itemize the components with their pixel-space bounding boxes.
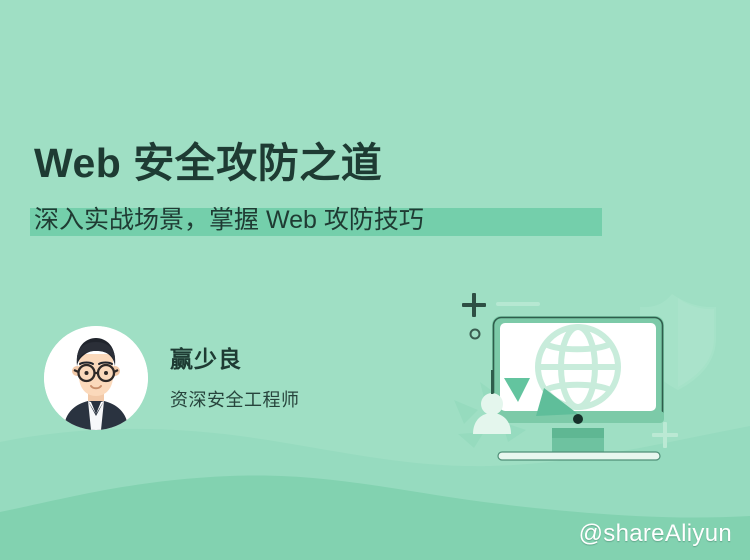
- speaker-text: 赢少良 资深安全工程师: [170, 340, 300, 416]
- speaker-block: 赢少良 资深安全工程师: [44, 326, 300, 430]
- speaker-role: 资深安全工程师: [170, 386, 300, 412]
- plus-icon: [462, 293, 486, 317]
- avatar: [44, 326, 148, 430]
- circle-outline-icon: [471, 330, 480, 339]
- user-icon: [473, 370, 511, 434]
- speaker-name: 赢少良: [170, 340, 300, 374]
- plus-icon: [652, 422, 678, 448]
- subtitle-wrap: 深入实战场景，掌握 Web 攻防技巧: [34, 203, 424, 238]
- shield-icon: [640, 294, 716, 390]
- watermark: @shareAliyun: [579, 520, 732, 548]
- page-subtitle: 深入实战场景，掌握 Web 攻防技巧: [34, 203, 424, 238]
- globe-icon: [538, 327, 618, 407]
- page-title: Web 安全攻防之道: [34, 140, 694, 187]
- arrow-icon: [536, 388, 578, 416]
- burst-decoration: [454, 382, 526, 448]
- arrow-icon: [504, 378, 530, 402]
- dash-line: [496, 302, 540, 306]
- desktop-monitor: [492, 316, 664, 460]
- headline-block: Web 安全攻防之道 深入实战场景，掌握 Web 攻防技巧: [34, 140, 694, 238]
- security-illustration: [448, 282, 750, 482]
- presentation-slide: Web 安全攻防之道 深入实战场景，掌握 Web 攻防技巧: [0, 0, 750, 560]
